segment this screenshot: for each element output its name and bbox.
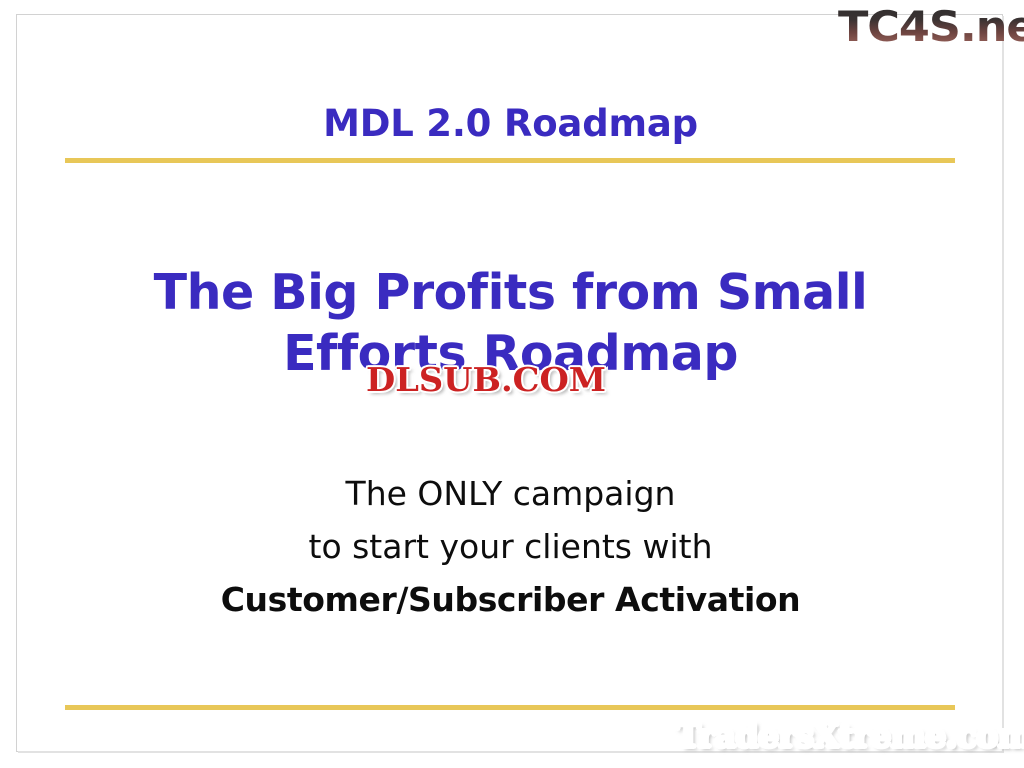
watermark-tc4s: TC4S.net bbox=[838, 2, 1024, 51]
watermark-tradersxtreme-text: TradersXtreme.com bbox=[676, 716, 1024, 755]
body-line-2: to start your clients with bbox=[17, 521, 1004, 574]
body-line-1: The ONLY campaign bbox=[17, 468, 1004, 521]
watermark-tradersxtreme: TradersXtreme.com bbox=[676, 716, 1024, 755]
watermark-dlsub: DLSUB.COM bbox=[366, 360, 606, 399]
main-heading-line-1: The Big Profits from Small bbox=[17, 263, 1004, 324]
divider-rule-top bbox=[65, 158, 955, 163]
slide-title: MDL 2.0 Roadmap bbox=[17, 104, 1004, 145]
body-copy: The ONLY campaign to start your clients … bbox=[17, 468, 1004, 626]
divider-rule-bottom bbox=[65, 705, 955, 710]
body-line-3: Customer/Subscriber Activation bbox=[17, 574, 1004, 627]
